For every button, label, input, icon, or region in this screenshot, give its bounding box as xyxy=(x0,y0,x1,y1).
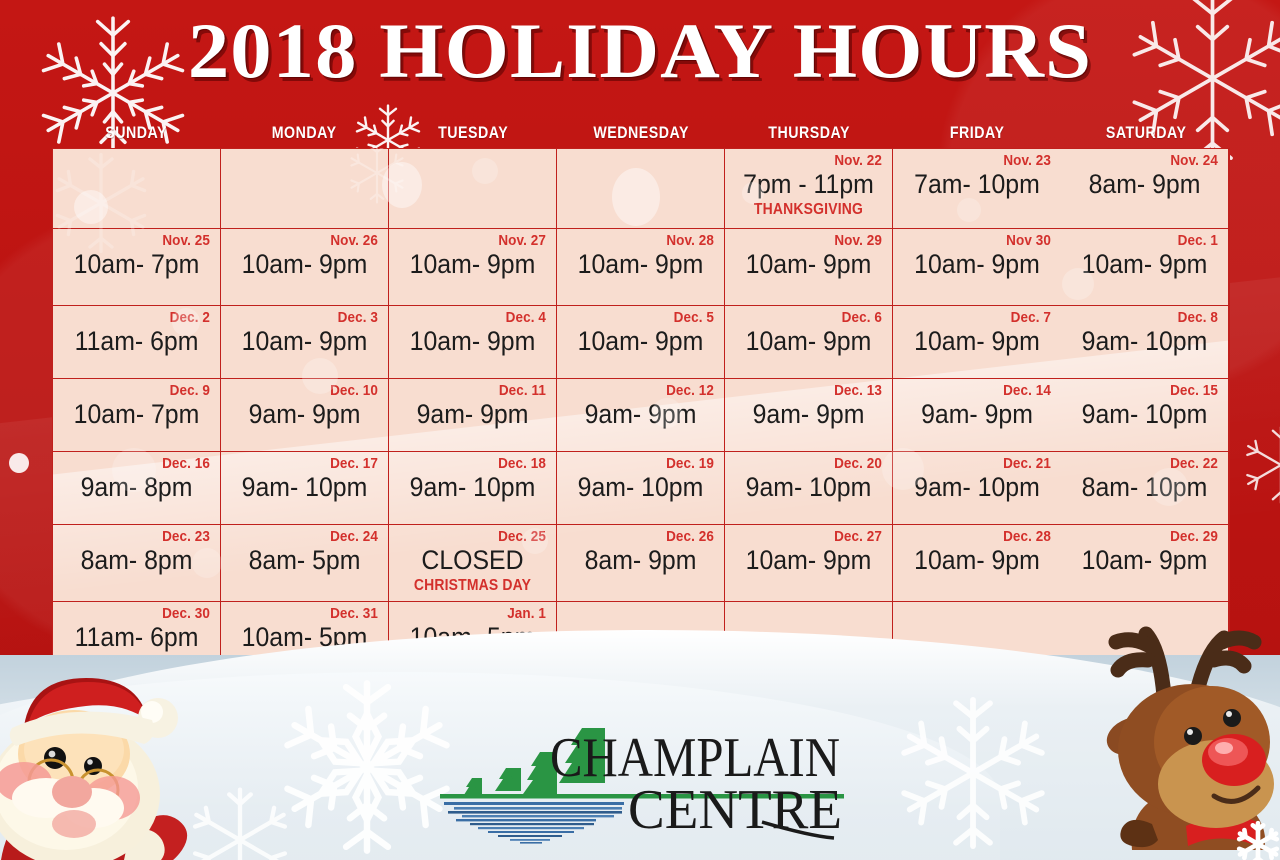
cell-date: Dec. 18 xyxy=(414,456,546,472)
champlain-centre-logo: CHAMPLAIN CENTRE xyxy=(432,694,852,844)
calendar-cell-empty xyxy=(53,149,221,229)
logo-wordmark-line2: CENTRE xyxy=(628,779,842,841)
cell-hours: CLOSED xyxy=(405,546,540,576)
cell-date: Dec. 11 xyxy=(414,383,546,399)
cell-hours: 10am- 9pm xyxy=(237,327,372,357)
calendar-cell: Nov. 2910am- 9pm xyxy=(725,229,893,306)
cell-date: Nov. 29 xyxy=(750,233,882,249)
calendar-cell: Dec. 89am- 10pm xyxy=(1061,306,1229,379)
cell-date: Dec. 14 xyxy=(918,383,1051,399)
calendar-cell: Nov. 2710am- 9pm xyxy=(389,229,557,306)
calendar-cell: Dec. 25CLOSEDCHRISTMAS DAY xyxy=(389,525,557,602)
cell-hours: 10am- 9pm xyxy=(237,250,372,280)
cell-date: Dec. 6 xyxy=(750,310,882,326)
calendar-cell: Nov 3010am- 9pm xyxy=(893,229,1061,306)
holiday-hours-poster: 2018 HOLIDAY HOURS SUNDAY MONDAY TUESDAY… xyxy=(0,0,1280,860)
calendar-cell: Nov. 2810am- 9pm xyxy=(557,229,725,306)
cell-note: THANKSGIVING xyxy=(742,201,874,218)
cell-date: Nov. 28 xyxy=(582,233,714,249)
cell-date: Nov. 25 xyxy=(78,233,210,249)
calendar-cell: Dec. 110am- 9pm xyxy=(1061,229,1229,306)
weekday-header-wednesday: WEDNESDAY xyxy=(569,124,714,146)
calendar-cell: Nov. 2610am- 9pm xyxy=(221,229,389,306)
cell-date: Dec. 8 xyxy=(1086,310,1218,326)
cell-date: Dec. 3 xyxy=(246,310,378,326)
cell-hours: 10am- 9pm xyxy=(1077,250,1212,280)
cell-hours: 11am- 6pm xyxy=(69,623,204,653)
santa-claus-illustration xyxy=(0,672,232,860)
calendar-cell-empty xyxy=(221,149,389,229)
weekday-header-friday: FRIDAY xyxy=(905,124,1050,146)
weekday-header-thursday: THURSDAY xyxy=(737,124,882,146)
calendar-cell: Dec. 139am- 9pm xyxy=(725,379,893,452)
calendar-cell: Dec. 238am- 8pm xyxy=(53,525,221,602)
cell-date: Dec. 13 xyxy=(750,383,882,399)
cell-hours: 7pm - 11pm xyxy=(741,170,876,200)
calendar-cell: Dec. 119am- 9pm xyxy=(389,379,557,452)
cell-date: Dec. 28 xyxy=(918,529,1051,545)
cell-hours: 9am- 10pm xyxy=(741,473,876,503)
cell-hours: 9am- 9pm xyxy=(741,400,876,430)
cell-hours: 9am- 10pm xyxy=(573,473,708,503)
cell-date: Dec. 30 xyxy=(78,606,210,622)
cell-date: Nov. 26 xyxy=(246,233,378,249)
cell-hours: 8am- 5pm xyxy=(237,546,372,576)
cell-date: Dec. 24 xyxy=(246,529,378,545)
cell-date: Dec. 21 xyxy=(918,456,1051,472)
cell-hours: 10am- 9pm xyxy=(909,546,1045,576)
calendar-cell: Dec. 228am- 10pm xyxy=(1061,452,1229,525)
calendar-cell: Nov. 227pm - 11pmTHANKSGIVING xyxy=(725,149,893,229)
cell-date: Nov. 27 xyxy=(414,233,546,249)
weekday-header-saturday: SATURDAY xyxy=(1073,124,1218,146)
cell-hours: 10am- 9pm xyxy=(573,327,708,357)
calendar-cell: Dec. 248am- 5pm xyxy=(221,525,389,602)
calendar-cell: Dec. 211am- 6pm xyxy=(53,306,221,379)
calendar-cell: Dec. 510am- 9pm xyxy=(557,306,725,379)
weekday-header-row: SUNDAY MONDAY TUESDAY WEDNESDAY THURSDAY… xyxy=(52,124,1230,146)
cell-hours: 9am- 10pm xyxy=(237,473,372,503)
cell-hours: 8am- 10pm xyxy=(1077,473,1212,503)
cell-hours: 7am- 10pm xyxy=(909,170,1045,200)
cell-hours: 10am- 7pm xyxy=(69,400,204,430)
calendar-cell: Dec. 149am- 9pm xyxy=(893,379,1061,452)
cell-hours: 10am- 9pm xyxy=(909,327,1045,357)
cell-date: Dec. 12 xyxy=(582,383,714,399)
cell-date: Dec. 16 xyxy=(78,456,210,472)
cell-date: Jan. 1 xyxy=(414,606,546,622)
cell-hours: 9am- 10pm xyxy=(1077,327,1212,357)
cell-date: Dec. 29 xyxy=(1086,529,1218,545)
cell-date: Dec. 31 xyxy=(246,606,378,622)
calendar-cell-empty xyxy=(557,149,725,229)
cell-date: Dec. 4 xyxy=(414,310,546,326)
cell-hours: 8am- 8pm xyxy=(69,546,204,576)
calendar-cell: Dec. 209am- 10pm xyxy=(725,452,893,525)
calendar-cell: Dec. 910am- 7pm xyxy=(53,379,221,452)
cell-date: Dec. 26 xyxy=(582,529,714,545)
cell-date: Nov. 22 xyxy=(750,153,882,169)
cell-date: Nov 30 xyxy=(918,233,1051,249)
cell-hours: 11am- 6pm xyxy=(69,327,204,357)
calendar-cell: Dec. 199am- 10pm xyxy=(557,452,725,525)
cell-hours: 9am- 10pm xyxy=(1077,400,1212,430)
water-reflection-icon xyxy=(444,802,624,844)
cell-hours: 10am- 9pm xyxy=(741,250,876,280)
cell-hours: 9am- 9pm xyxy=(405,400,540,430)
weekday-header-sunday: SUNDAY xyxy=(64,124,209,146)
calendar-cell: Dec. 268am- 9pm xyxy=(557,525,725,602)
cell-date: Dec. 20 xyxy=(750,456,882,472)
cell-date: Dec. 23 xyxy=(78,529,210,545)
calendar-grid: Nov. 227pm - 11pmTHANKSGIVINGNov. 237am-… xyxy=(52,148,1230,676)
cell-date: Dec. 27 xyxy=(750,529,882,545)
calendar-cell: Dec. 169am- 8pm xyxy=(53,452,221,525)
cell-hours: 10am- 9pm xyxy=(909,250,1045,280)
cell-hours: 10am- 9pm xyxy=(741,546,876,576)
calendar-cell: Dec. 109am- 9pm xyxy=(221,379,389,452)
cell-hours: 9am- 9pm xyxy=(237,400,372,430)
cell-hours: 10am- 9pm xyxy=(1077,546,1212,576)
calendar-cell: Dec. 189am- 10pm xyxy=(389,452,557,525)
cell-hours: 10am- 9pm xyxy=(573,250,708,280)
cell-date: Dec. 9 xyxy=(78,383,210,399)
calendar-cell: Dec. 129am- 9pm xyxy=(557,379,725,452)
cell-date: Dec. 7 xyxy=(918,310,1051,326)
cell-date: Nov. 24 xyxy=(1086,153,1218,169)
cell-date: Dec. 10 xyxy=(246,383,378,399)
cell-hours: 10am- 9pm xyxy=(405,327,540,357)
cell-hours: 9am- 10pm xyxy=(405,473,540,503)
calendar-cell: Nov. 2510am- 7pm xyxy=(53,229,221,306)
calendar-cell: Dec. 159am- 10pm xyxy=(1061,379,1229,452)
page-title: 2018 HOLIDAY HOURS xyxy=(0,12,1280,90)
cell-date: Dec. 17 xyxy=(246,456,378,472)
cell-date: Dec. 1 xyxy=(1086,233,1218,249)
calendar-cell: Nov. 237am- 10pm xyxy=(893,149,1061,229)
calendar-cell: Dec. 410am- 9pm xyxy=(389,306,557,379)
calendar-cell: Dec. 310am- 9pm xyxy=(221,306,389,379)
cell-hours: 10am- 7pm xyxy=(69,250,204,280)
weekday-header-monday: MONDAY xyxy=(232,124,377,146)
cell-hours: 10am- 9pm xyxy=(405,250,540,280)
cell-hours: 10am- 9pm xyxy=(741,327,876,357)
cell-note: CHRISTMAS DAY xyxy=(406,577,538,594)
cell-date: Dec. 15 xyxy=(1086,383,1218,399)
weekday-header-tuesday: TUESDAY xyxy=(400,124,545,146)
cell-hours: 8am- 9pm xyxy=(1077,170,1212,200)
calendar-cell-empty xyxy=(389,149,557,229)
cell-date: Dec. 22 xyxy=(1086,456,1218,472)
calendar-cell: Dec. 2910am- 9pm xyxy=(1061,525,1229,602)
calendar-cell: Dec. 179am- 10pm xyxy=(221,452,389,525)
cell-date: Dec. 25 xyxy=(414,529,546,545)
cell-date: Dec. 19 xyxy=(582,456,714,472)
cell-hours: 9am- 9pm xyxy=(909,400,1045,430)
calendar-cell: Dec. 2710am- 9pm xyxy=(725,525,893,602)
calendar-cell: Dec. 610am- 9pm xyxy=(725,306,893,379)
calendar-cell: Nov. 248am- 9pm xyxy=(1061,149,1229,229)
reindeer-illustration xyxy=(1036,600,1280,860)
calendar-cell: Dec. 219am- 10pm xyxy=(893,452,1061,525)
cell-hours: 9am- 10pm xyxy=(909,473,1045,503)
calendar-cell: Dec. 710am- 9pm xyxy=(893,306,1061,379)
cell-hours: 9am- 9pm xyxy=(573,400,708,430)
cell-date: Dec. 2 xyxy=(78,310,210,326)
calendar-cell: Dec. 2810am- 9pm xyxy=(893,525,1061,602)
cell-hours: 8am- 9pm xyxy=(573,546,708,576)
cell-hours: 9am- 8pm xyxy=(69,473,204,503)
cell-date: Nov. 23 xyxy=(918,153,1051,169)
cell-date: Dec. 5 xyxy=(582,310,714,326)
